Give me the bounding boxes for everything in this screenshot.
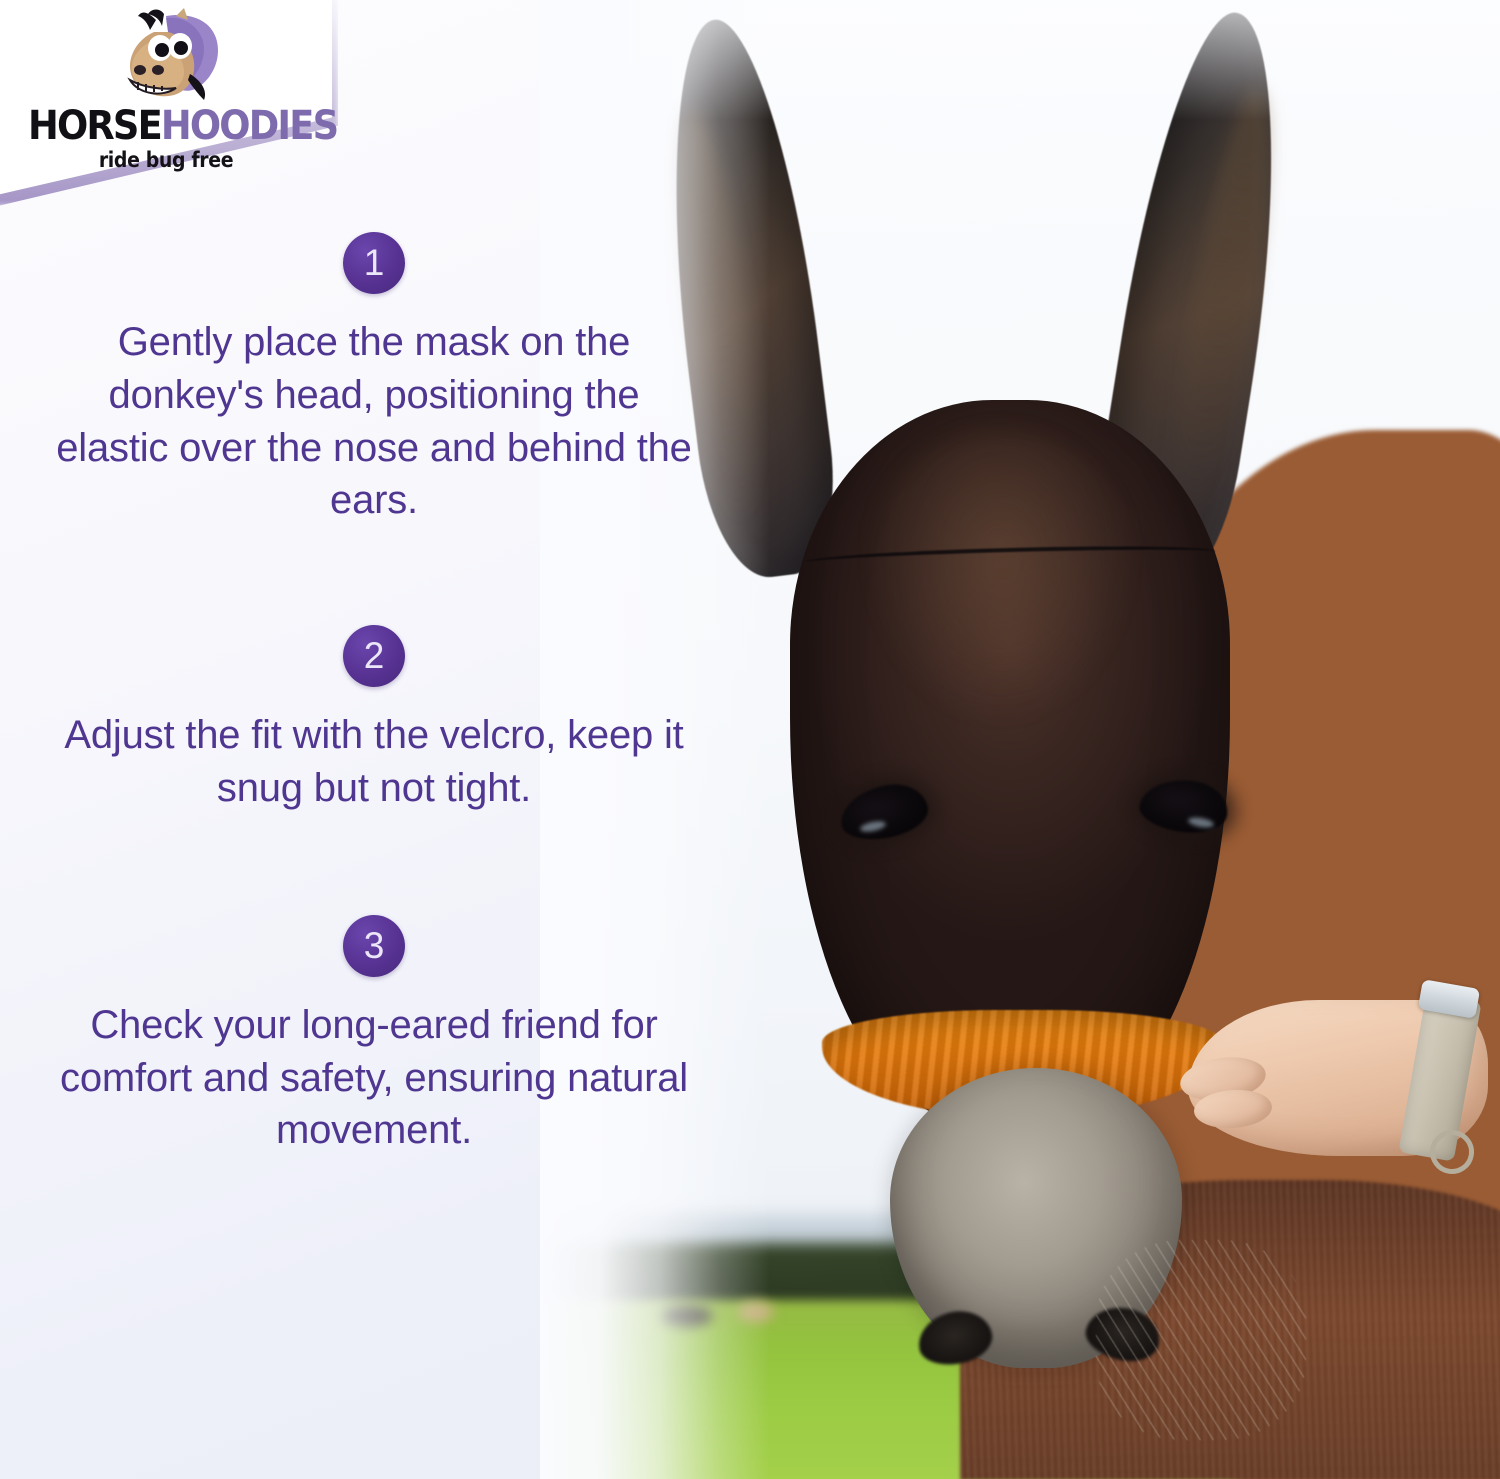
step-number-badge-2: 2 <box>343 625 405 687</box>
forehead-highlight <box>860 430 1140 730</box>
grazing-animal <box>738 1302 774 1322</box>
wordmark-horse: HORSE <box>28 103 161 149</box>
grazing-animal <box>660 1305 712 1327</box>
step-number-badge-3: 3 <box>343 915 405 977</box>
brand-tagline: ride bug free <box>31 148 301 172</box>
wordmark-hoodies: HOODIES <box>161 103 337 149</box>
step-text-1: Gently place the mask on the donkey's he… <box>54 316 694 527</box>
step-text-3: Check your long-eared friend for comfort… <box>54 999 694 1157</box>
step-item-2: 2 Adjust the fit with the velcro, keep i… <box>44 625 704 815</box>
horse-mascot-icon <box>104 8 230 108</box>
step-item-3: 3 Check your long-eared friend for comfo… <box>44 915 704 1157</box>
brand-wordmark: HORSEHOODIES <box>28 106 304 146</box>
instruction-infographic: HORSEHOODIES ride bug free 1 Gently plac… <box>0 0 1500 1479</box>
muzzle-whiskers <box>1096 1240 1306 1440</box>
step-item-1: 1 Gently place the mask on the donkey's … <box>44 232 704 527</box>
steps-list: 1 Gently place the mask on the donkey's … <box>44 232 704 1157</box>
step-number-badge-1: 1 <box>343 232 405 294</box>
step-text-2: Adjust the fit with the velcro, keep it … <box>64 709 684 815</box>
